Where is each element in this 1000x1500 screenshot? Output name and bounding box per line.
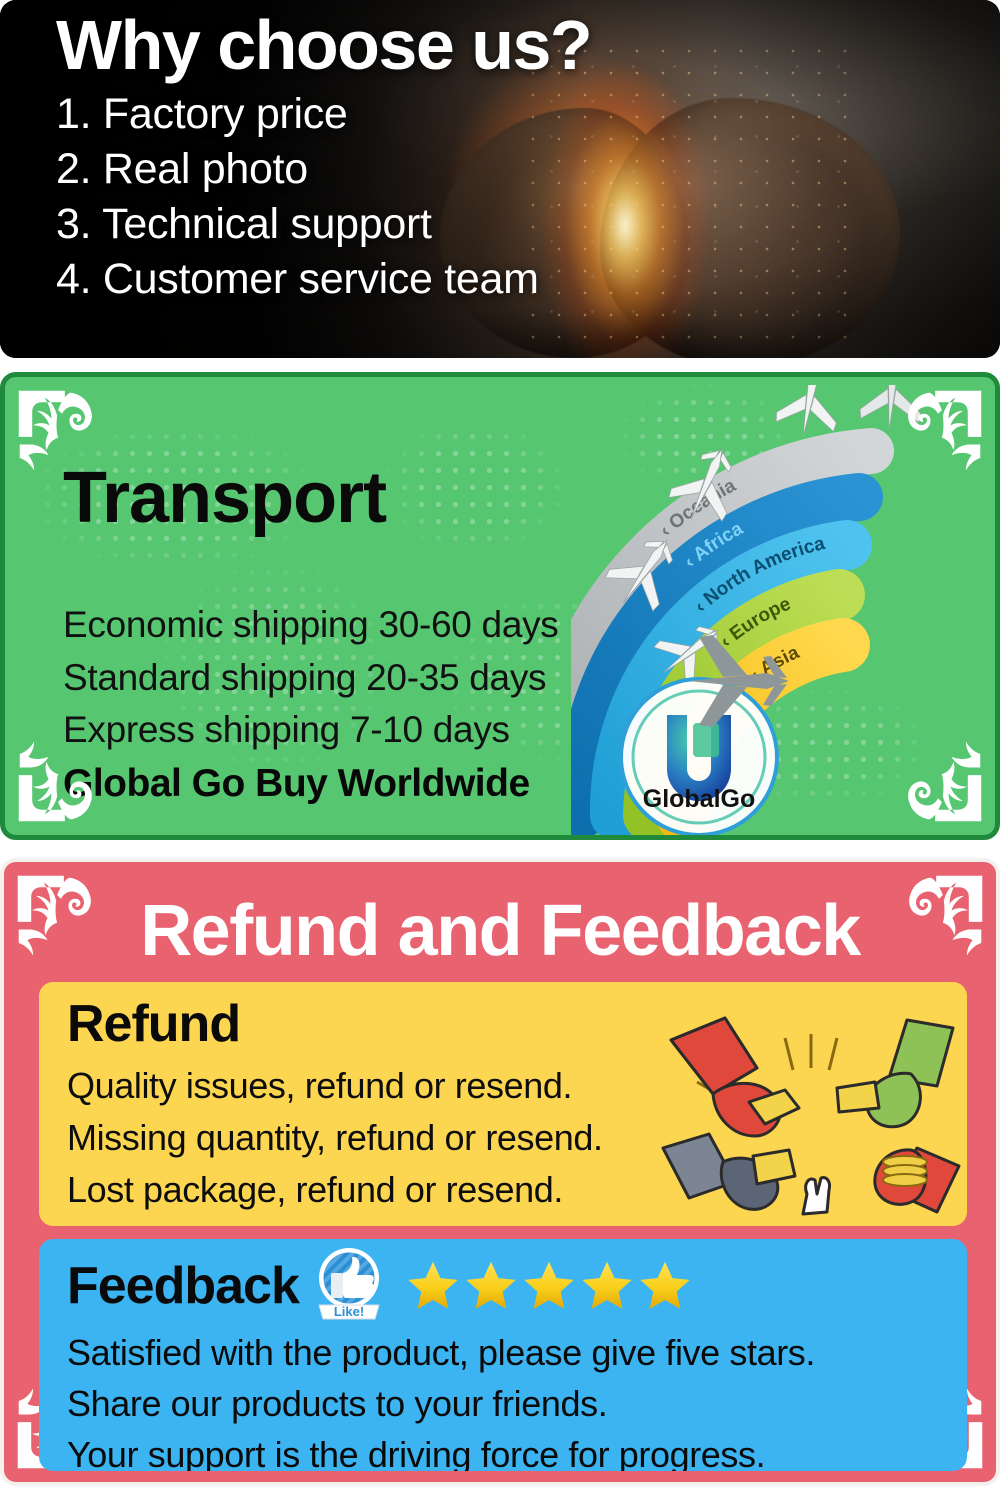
like-label: Like! (334, 1304, 364, 1319)
hero-benefit-list: 1. Factory price 2. Real photo 3. Techni… (56, 87, 1000, 307)
shipping-option-standard: Standard shipping 20-35 days (63, 652, 559, 705)
feedback-line-stars: Satisfied with the product, please give … (67, 1327, 815, 1378)
refund-heading: Refund (67, 994, 240, 1054)
refund-policy-list: Quality issues, refund or resend. Missin… (67, 1060, 603, 1215)
shipping-option-economic: Economic shipping 30-60 days (63, 599, 559, 652)
refund-policy-missing: Missing quantity, refund or resend. (67, 1112, 603, 1164)
hero-title: Why choose us? (56, 10, 1000, 81)
transport-title: Transport (63, 457, 386, 539)
transport-section: ‹ Asia ‹ Europe ‹ North America ‹ Africa… (0, 372, 1000, 840)
feedback-line-support: Your support is the driving force for pr… (67, 1429, 815, 1471)
shipping-routes-illustration: ‹ Asia ‹ Europe ‹ North America ‹ Africa… (571, 385, 1000, 840)
star-icon (405, 1258, 461, 1314)
star-icon (579, 1258, 635, 1314)
refund-card: Refund Quality issues, refund or resend.… (39, 982, 967, 1226)
feedback-request-list: Satisfied with the product, please give … (67, 1327, 815, 1471)
refund-policy-quality: Quality issues, refund or resend. (67, 1060, 603, 1112)
why-choose-us-section: Why choose us? 1. Factory price 2. Real … (0, 0, 1000, 358)
product-detail-banner: Why choose us? 1. Factory price 2. Real … (0, 0, 1000, 1500)
money-hands-illustration (661, 1016, 961, 1221)
star-icon (521, 1258, 577, 1314)
hero-benefit-3: 3. Technical support (56, 197, 1000, 252)
refund-feedback-title: Refund and Feedback (4, 890, 996, 972)
star-icon (637, 1258, 693, 1314)
five-star-rating (405, 1258, 693, 1314)
hero-text-block: Why choose us? 1. Factory price 2. Real … (0, 0, 1000, 358)
star-icon (463, 1258, 519, 1314)
hero-benefit-1: 1. Factory price (56, 87, 1000, 142)
hero-benefit-4: 4. Customer service team (56, 252, 1000, 307)
transport-slogan: Global Go Buy Worldwide (63, 762, 530, 806)
shipping-options-list: Economic shipping 30-60 days Standard sh… (63, 599, 559, 757)
hero-benefit-2: 2. Real photo (56, 142, 1000, 197)
feedback-line-share: Share our products to your friends. (67, 1378, 815, 1429)
feedback-card: Feedback Lik (39, 1239, 967, 1471)
shipping-option-express: Express shipping 7-10 days (63, 704, 559, 757)
refund-and-feedback-section: Refund and Feedback (0, 858, 1000, 1486)
feedback-heading: Feedback (67, 1256, 299, 1316)
thumbs-up-like-icon: Like! (313, 1245, 385, 1327)
globalgo-logo-text: GlobalGo (643, 785, 756, 813)
feedback-header-row: Feedback Lik (67, 1245, 693, 1327)
refund-policy-lost: Lost package, refund or resend. (67, 1164, 603, 1216)
